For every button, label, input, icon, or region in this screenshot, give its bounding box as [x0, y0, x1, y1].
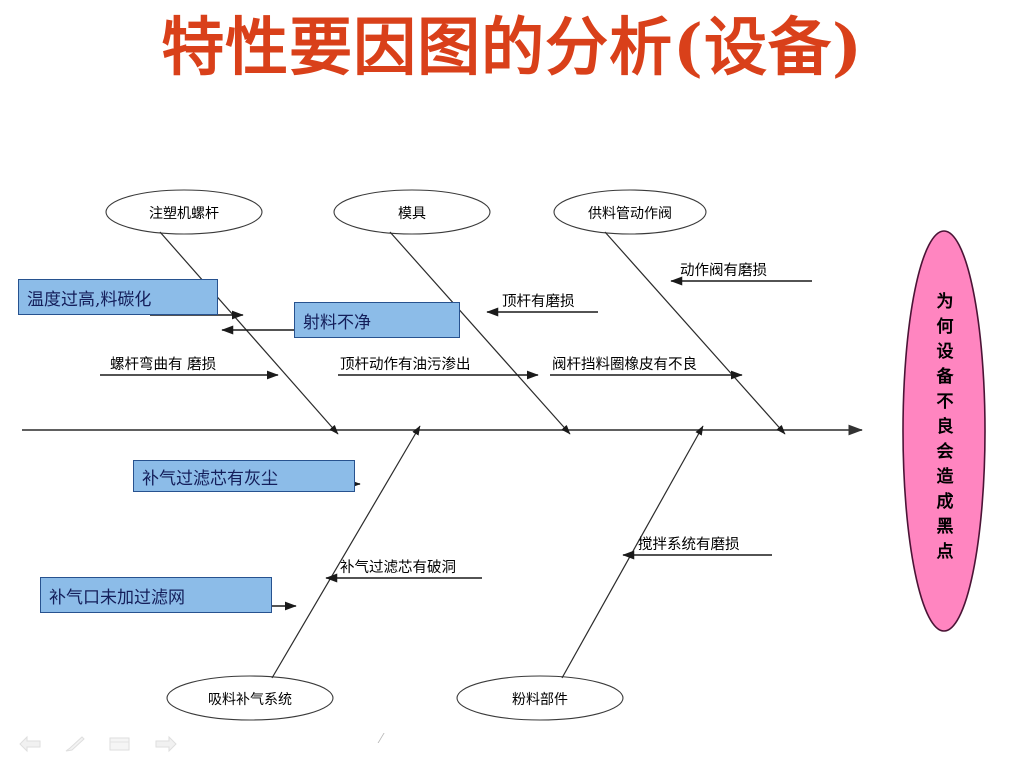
slide-canvas: 特性要因图的分析(设备) [0, 0, 1024, 768]
slide-toolbar[interactable] [18, 735, 178, 757]
category-label-top-2: 模具 [352, 203, 472, 223]
cause-label-ejector-oil: 顶杆动作有油污渗出 [340, 353, 471, 374]
effect-char: 为 [918, 290, 972, 315]
pen-icon[interactable] [64, 735, 86, 757]
cause-label-screw-bend: 螺杆弯曲有 磨损 [110, 353, 216, 374]
effect-char: 何 [918, 315, 972, 340]
previous-arrow-icon[interactable] [18, 735, 42, 757]
cause-box-no-filter-mesh: 补气口未加过滤网 [40, 577, 272, 613]
effect-char: 备 [918, 365, 972, 390]
slide-icon[interactable] [108, 735, 132, 757]
cause-label-ejector-wear: 顶杆有磨损 [502, 290, 575, 311]
effect-char: 良 [918, 415, 972, 440]
effect-char: 不 [918, 390, 972, 415]
cause-label-filter-hole: 补气过滤芯有破洞 [340, 556, 456, 577]
effect-char: 设 [918, 340, 972, 365]
effect-char: 成 [918, 490, 972, 515]
cause-label-valve-wear: 动作阀有磨损 [680, 259, 767, 280]
cause-label-valve-rubber: 阀杆挡料圈橡皮有不良 [552, 353, 697, 374]
effect-char: 点 [918, 540, 972, 565]
effect-char: 黑 [918, 515, 972, 540]
cause-box-filter-dust: 补气过滤芯有灰尘 [133, 460, 355, 492]
cause-box-injection: 射料不净 [294, 302, 460, 338]
effect-label: 为 何 设 备 不 良 会 造 成 黑 点 [918, 290, 972, 565]
category-label-top-3: 供料管动作阀 [567, 203, 693, 223]
category-label-bottom-1: 吸料补气系统 [180, 689, 320, 709]
category-label-bottom-2: 粉料部件 [476, 689, 604, 709]
stray-mark: ⁄ [380, 732, 382, 747]
effect-char: 造 [918, 465, 972, 490]
next-arrow-icon[interactable] [154, 735, 178, 757]
category-label-top-1: 注塑机螺杆 [124, 203, 244, 223]
cause-box-temperature: 温度过高,料碳化 [18, 279, 218, 315]
fishbone-graphics [0, 0, 1024, 768]
effect-char: 会 [918, 440, 972, 465]
cause-label-mixer-wear: 搅拌系统有磨损 [638, 533, 740, 554]
